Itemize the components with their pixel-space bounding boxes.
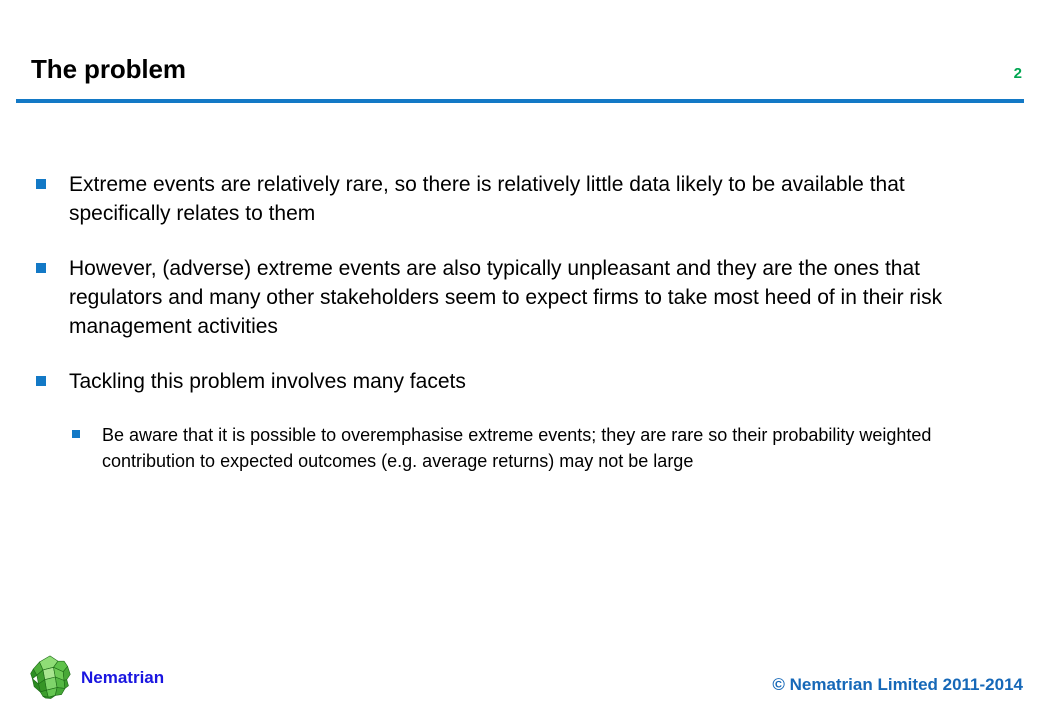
page-title: The problem <box>31 55 186 84</box>
brand-name: Nematrian <box>81 669 164 686</box>
slide-header: The problem 2 <box>0 0 1040 110</box>
square-bullet-icon <box>36 263 46 273</box>
bullet-item: Extreme events are relatively rare, so t… <box>36 170 989 228</box>
bullet-text: However, (adverse) extreme events are al… <box>69 254 989 341</box>
sub-bullet-item: Be aware that it is possible to overemph… <box>72 422 992 474</box>
sub-bullet-text: Be aware that it is possible to overemph… <box>102 422 992 474</box>
bullet-text: Tackling this problem involves many face… <box>69 367 989 396</box>
page-number: 2 <box>1014 66 1022 81</box>
slide-body: Extreme events are relatively rare, so t… <box>0 170 1040 500</box>
bullet-item: Tackling this problem involves many face… <box>36 367 989 396</box>
square-bullet-icon <box>36 376 46 386</box>
bullet-list: Extreme events are relatively rare, so t… <box>0 170 1040 474</box>
square-bullet-icon <box>72 430 80 438</box>
slide-footer: Nematrian © Nematrian Limited 2011-2014 <box>0 630 1040 720</box>
polyhedron-logo-icon <box>28 654 72 700</box>
title-divider <box>16 99 1024 103</box>
copyright-notice: © Nematrian Limited 2011-2014 <box>772 676 1023 693</box>
brand-lockup: Nematrian <box>28 654 164 700</box>
square-bullet-icon <box>36 179 46 189</box>
slide: The problem 2 Extreme events are relativ… <box>0 0 1040 720</box>
bullet-text: Extreme events are relatively rare, so t… <box>69 170 989 228</box>
bullet-item: However, (adverse) extreme events are al… <box>36 254 989 341</box>
